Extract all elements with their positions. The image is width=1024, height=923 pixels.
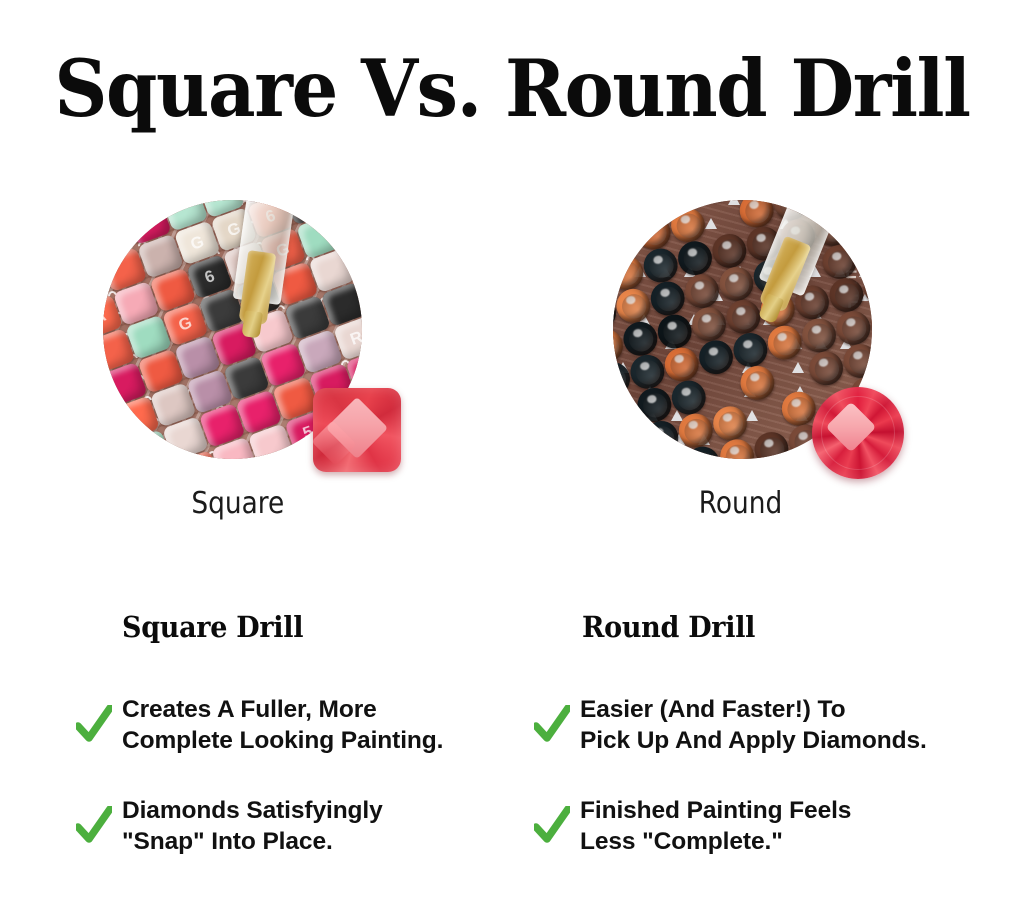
green-check-icon: [534, 806, 570, 846]
list-item: Diamonds Satisfyingly "Snap" Into Place.: [76, 795, 383, 857]
infographic-page: Square Vs. Round Drill EFSE: [0, 0, 1024, 923]
list-item-label: Finished Painting Feels Less "Complete.": [580, 795, 851, 857]
green-check-icon: [76, 806, 112, 846]
list-item: Easier (And Faster!) To Pick Up And Appl…: [534, 694, 927, 756]
round-gem-icon: [812, 387, 904, 479]
list-item-label: Creates A Fuller, More Complete Looking …: [122, 694, 443, 756]
pen-tip: [241, 310, 262, 338]
list-item-label: Easier (And Faster!) To Pick Up And Appl…: [580, 694, 927, 756]
heading-square-drill: Square Drill: [122, 610, 303, 644]
square-gem-icon: [313, 388, 401, 472]
list-item: Creates A Fuller, More Complete Looking …: [76, 694, 443, 756]
green-check-icon: [534, 705, 570, 745]
caption-square: Square: [191, 486, 284, 522]
list-item: Finished Painting Feels Less "Complete.": [534, 795, 851, 857]
list-item-label: Diamonds Satisfyingly "Snap" Into Place.: [122, 795, 383, 857]
heading-round-drill: Round Drill: [582, 610, 755, 644]
green-check-icon: [76, 705, 112, 745]
caption-round: Round: [699, 486, 783, 522]
page-title: Square Vs. Round Drill: [36, 46, 988, 132]
gem-facet-ring: [821, 396, 895, 470]
